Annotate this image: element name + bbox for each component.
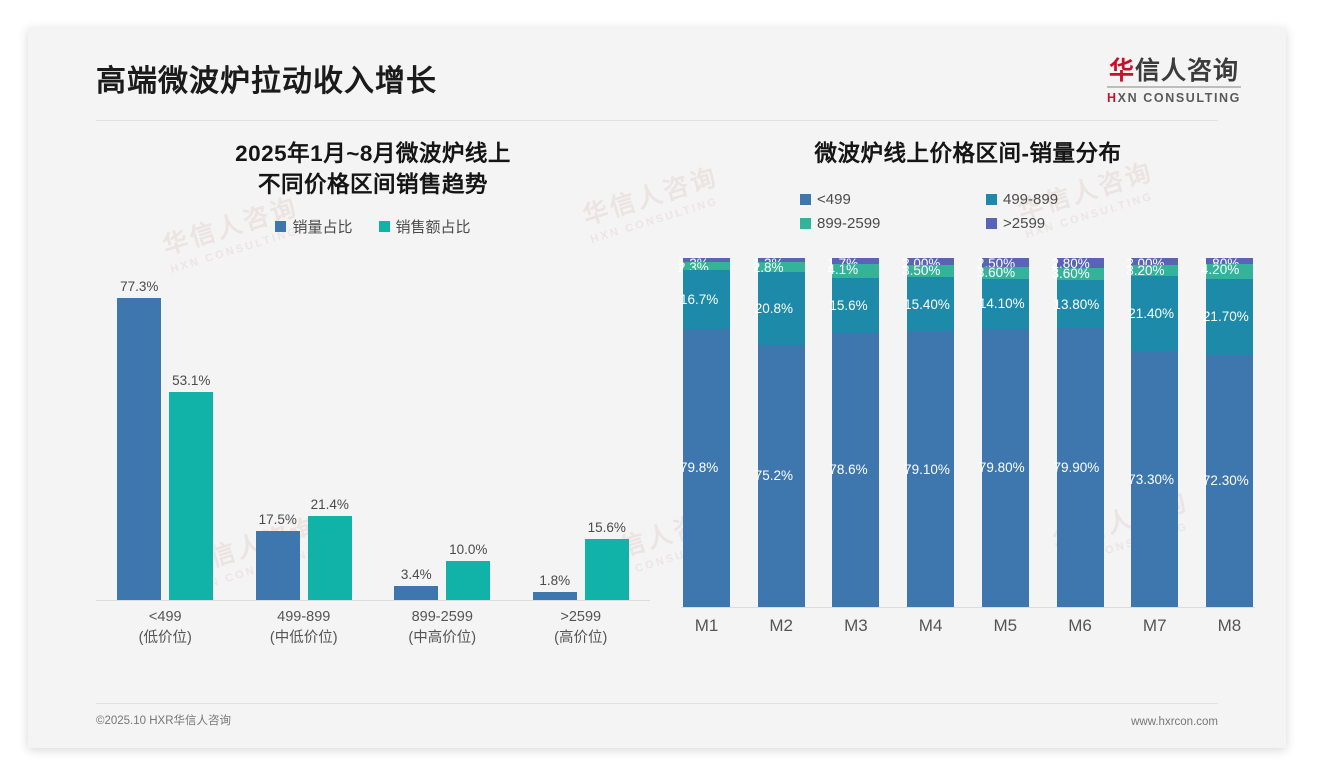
x-tick-m4: M4 — [907, 616, 954, 636]
segment-899-2599[interactable]: 3.60% — [1057, 268, 1104, 281]
header-divider — [96, 120, 1218, 121]
x-tick-899-2599: 899-2599 (中高价位) — [382, 607, 502, 649]
segment-899-2599[interactable]: 2.8% — [758, 262, 805, 272]
bar-rect[interactable] — [117, 298, 161, 600]
segment-value-label: 20.8% — [755, 301, 793, 316]
stacked-bar-m6[interactable]: 2.80% 3.60% 13.80% 79.90% — [1057, 258, 1104, 607]
x-tick-499-899: 499-899 (中低价位) — [244, 607, 364, 649]
bar-value-label: 21.4% — [311, 497, 349, 512]
bar-group-899-2599: 3.4% 10.0% — [394, 271, 490, 600]
segment-value-label: 79.80% — [979, 460, 1025, 475]
x-tick-gt2599: >2599 (高价位) — [521, 607, 641, 649]
stacked-bar-m7[interactable]: 2.00% 3.20% 21.40% 73.30% — [1131, 258, 1178, 607]
stacked-bar-m3[interactable]: 1.7% 4.1% 15.6% 78.6% — [832, 258, 879, 607]
x-tick-sub: (中低价位) — [244, 628, 364, 649]
segment-value-label: 16.7% — [680, 292, 718, 307]
segment-499-899[interactable]: 15.6% — [832, 278, 879, 332]
legend-label-gt2599: >2599 — [1003, 215, 1045, 232]
segment-lt499[interactable]: 78.6% — [832, 333, 879, 607]
segment-value-label: 15.40% — [904, 297, 950, 312]
right-chart-plot: 1.2% 2.3% 16.7% 79.8% 1.2% 2.8% 20.8% 75… — [673, 258, 1263, 608]
segment-value-label: 4.20% — [1201, 262, 1239, 277]
logo-en-red: H — [1107, 91, 1118, 105]
segment-value-label: 21.40% — [1128, 306, 1174, 321]
x-tick-main: 499-899 — [244, 607, 364, 628]
x-tick-main: 899-2599 — [382, 607, 502, 628]
x-tick-lt499: <499 (低价位) — [105, 607, 225, 649]
x-tick-m2: M2 — [758, 616, 805, 636]
bar-rect[interactable] — [169, 392, 213, 600]
bar-rect[interactable] — [533, 592, 577, 600]
x-tick-main: >2599 — [521, 607, 641, 628]
stacked-bar-m1[interactable]: 1.2% 2.3% 16.7% 79.8% — [683, 258, 730, 607]
legend-label-899-2599: 899-2599 — [817, 215, 880, 232]
segment-lt499[interactable]: 79.10% — [907, 331, 954, 607]
logo-english-text: HXN CONSULTING — [1107, 91, 1241, 105]
left-chart-title-line2: 不同价格区间销售趋势 — [88, 169, 658, 200]
left-chart-x-axis-labels: <499 (低价位) 499-899 (中低价位) 899-2599 (中高价位… — [96, 607, 650, 649]
slide-header: 高端微波炉拉动收入增长 华信人咨询 HXN CONSULTING — [28, 28, 1286, 120]
legend-item-gt2599[interactable]: >2599 — [986, 215, 1136, 232]
segment-lt499[interactable]: 79.8% — [683, 329, 730, 608]
bar-rect[interactable] — [256, 531, 300, 600]
segment-lt499[interactable]: 73.30% — [1131, 351, 1178, 607]
left-chart: 2025年1月~8月微波炉线上 不同价格区间销售趋势 销量占比 销售额占比 77… — [88, 138, 658, 698]
bar-group-lt499: 77.3% 53.1% — [117, 271, 213, 600]
bar-volume-899-2599[interactable]: 3.4% — [394, 271, 438, 600]
segment-value-label: 79.90% — [1054, 460, 1100, 475]
company-logo: 华信人咨询 HXN CONSULTING — [1107, 58, 1241, 105]
right-chart: 微波炉线上价格区间-销量分布 <499 499-899 899-2599 >25… — [673, 138, 1263, 698]
segment-value-label: 3.50% — [902, 263, 940, 278]
x-tick-sub: (中高价位) — [382, 628, 502, 649]
right-chart-legend: <499 499-899 899-2599 >2599 — [673, 191, 1263, 232]
bar-revenue-lt499[interactable]: 53.1% — [169, 271, 213, 600]
bar-volume-lt499[interactable]: 77.3% — [117, 271, 161, 600]
legend-item-899-2599[interactable]: 899-2599 — [800, 215, 950, 232]
stacked-bar-m2[interactable]: 1.2% 2.8% 20.8% 75.2% — [758, 258, 805, 607]
bar-revenue-899-2599[interactable]: 10.0% — [446, 271, 490, 600]
legend-swatch-499-899 — [986, 194, 997, 205]
bar-rect[interactable] — [585, 539, 629, 600]
segment-499-899[interactable]: 16.7% — [683, 270, 730, 328]
segment-value-label: 3.60% — [1052, 266, 1090, 281]
bar-value-label: 53.1% — [172, 373, 210, 388]
bar-revenue-499-899[interactable]: 21.4% — [308, 271, 352, 600]
stacked-bar-m8[interactable]: 1.80% 4.20% 21.70% 72.30% — [1206, 258, 1253, 607]
bar-rect[interactable] — [446, 561, 490, 600]
footer-copyright: ©2025.10 HXR华信人咨询 — [96, 712, 231, 728]
legend-swatch-revenue — [379, 221, 390, 232]
bar-value-label: 77.3% — [120, 279, 158, 294]
legend-label-lt499: <499 — [817, 191, 851, 208]
segment-499-899[interactable]: 14.10% — [982, 279, 1029, 328]
x-tick-m8: M8 — [1206, 616, 1253, 636]
bar-revenue-gt2599[interactable]: 15.6% — [585, 271, 629, 600]
left-chart-plot: 77.3% 53.1% 17.5% 21.4% — [88, 271, 658, 601]
bar-value-label: 3.4% — [401, 567, 432, 582]
x-tick-main: <499 — [105, 607, 225, 628]
slide: 高端微波炉拉动收入增长 华信人咨询 HXN CONSULTING 华信人咨询 H… — [28, 28, 1286, 748]
stacked-bar-m5[interactable]: 2.50% 3.60% 14.10% 79.80% — [982, 258, 1029, 607]
segment-lt499[interactable]: 79.80% — [982, 329, 1029, 608]
x-tick-m1: M1 — [683, 616, 730, 636]
legend-label-revenue: 销售额占比 — [396, 216, 471, 237]
x-tick-sub: (高价位) — [521, 628, 641, 649]
segment-value-label: 14.10% — [979, 296, 1025, 311]
bar-value-label: 1.8% — [539, 573, 570, 588]
x-tick-sub: (低价位) — [105, 628, 225, 649]
left-chart-legend: 销量占比 销售额占比 — [88, 216, 658, 237]
x-tick-m6: M6 — [1057, 616, 1104, 636]
footer-website[interactable]: www.hxrcon.com — [1131, 716, 1218, 728]
segment-lt499[interactable]: 79.90% — [1057, 328, 1104, 607]
legend-label-499-899: 499-899 — [1003, 191, 1058, 208]
segment-value-label: 73.30% — [1128, 472, 1174, 487]
left-chart-title: 2025年1月~8月微波炉线上 不同价格区间销售趋势 — [88, 138, 658, 200]
segment-499-899[interactable]: 13.80% — [1057, 280, 1104, 328]
segment-899-2599[interactable]: 3.50% — [907, 265, 954, 277]
segment-lt499[interactable]: 72.30% — [1206, 355, 1253, 607]
right-chart-x-axis-labels: M1 M2 M3 M4 M5 M6 M7 M8 — [683, 616, 1253, 636]
legend-item-lt499[interactable]: <499 — [800, 191, 950, 208]
segment-899-2599[interactable]: 2.3% — [683, 262, 730, 270]
logo-en-rest: XN CONSULTING — [1118, 91, 1241, 105]
legend-label-volume: 销量占比 — [292, 216, 352, 237]
stacked-bar-m4[interactable]: 2.00% 3.50% 15.40% 79.10% — [907, 258, 954, 607]
page-title: 高端微波炉拉动收入增长 — [96, 56, 437, 100]
bar-rect[interactable] — [308, 516, 352, 600]
segment-value-label: 75.2% — [755, 468, 793, 483]
logo-chinese-text: 华信人咨询 — [1107, 58, 1241, 84]
segment-value-label: 4.1% — [827, 262, 858, 277]
segment-899-2599[interactable]: 3.60% — [982, 267, 1029, 280]
segment-value-label: 15.6% — [829, 298, 867, 313]
left-chart-x-axis-line — [96, 600, 650, 601]
segment-value-label: 21.70% — [1203, 309, 1249, 324]
segment-499-899[interactable]: 21.40% — [1131, 276, 1178, 351]
bar-group-499-899: 17.5% 21.4% — [256, 271, 352, 600]
segment-value-label: 79.8% — [680, 460, 718, 475]
segment-value-label: 72.30% — [1203, 473, 1249, 488]
segment-value-label: 13.80% — [1054, 297, 1100, 312]
segment-value-label: 79.10% — [904, 462, 950, 477]
left-chart-title-line1: 2025年1月~8月微波炉线上 — [88, 138, 658, 169]
x-tick-m5: M5 — [982, 616, 1029, 636]
legend-swatch-899-2599 — [800, 218, 811, 229]
bar-value-label: 15.6% — [588, 520, 626, 535]
right-chart-x-axis-line — [681, 607, 1255, 608]
segment-lt499[interactable]: 75.2% — [758, 345, 805, 607]
x-tick-m3: M3 — [832, 616, 879, 636]
left-chart-bar-groups: 77.3% 53.1% 17.5% 21.4% — [96, 271, 650, 600]
right-chart-stacks: 1.2% 2.3% 16.7% 79.8% 1.2% 2.8% 20.8% 75… — [683, 258, 1253, 607]
legend-item-volume[interactable]: 销量占比 — [275, 216, 352, 237]
segment-899-2599[interactable]: 3.20% — [1131, 265, 1178, 276]
bar-rect[interactable] — [394, 586, 438, 600]
legend-swatch-volume — [275, 221, 286, 232]
x-tick-m7: M7 — [1131, 616, 1178, 636]
segment-value-label: 3.60% — [977, 265, 1015, 280]
segment-899-2599[interactable]: 4.20% — [1206, 264, 1253, 279]
logo-cn-dark: 信人咨询 — [1135, 57, 1239, 85]
legend-item-revenue[interactable]: 销售额占比 — [379, 216, 471, 237]
bar-value-label: 17.5% — [259, 512, 297, 527]
legend-swatch-lt499 — [800, 194, 811, 205]
legend-item-499-899[interactable]: 499-899 — [986, 191, 1136, 208]
legend-swatch-gt2599 — [986, 218, 997, 229]
segment-499-899[interactable]: 15.40% — [907, 277, 954, 331]
bar-volume-499-899[interactable]: 17.5% — [256, 271, 300, 600]
footer-divider — [96, 703, 1218, 704]
bar-value-label: 10.0% — [449, 542, 487, 557]
segment-499-899[interactable]: 20.8% — [758, 272, 805, 345]
segment-899-2599[interactable]: 4.1% — [832, 264, 879, 278]
logo-cn-red: 华 — [1109, 57, 1135, 85]
bar-volume-gt2599[interactable]: 1.8% — [533, 271, 577, 600]
bar-group-gt2599: 1.8% 15.6% — [533, 271, 629, 600]
segment-499-899[interactable]: 21.70% — [1206, 279, 1253, 355]
right-chart-title: 微波炉线上价格区间-销量分布 — [673, 138, 1263, 169]
segment-value-label: 78.6% — [829, 462, 867, 477]
logo-divider — [1107, 86, 1241, 88]
